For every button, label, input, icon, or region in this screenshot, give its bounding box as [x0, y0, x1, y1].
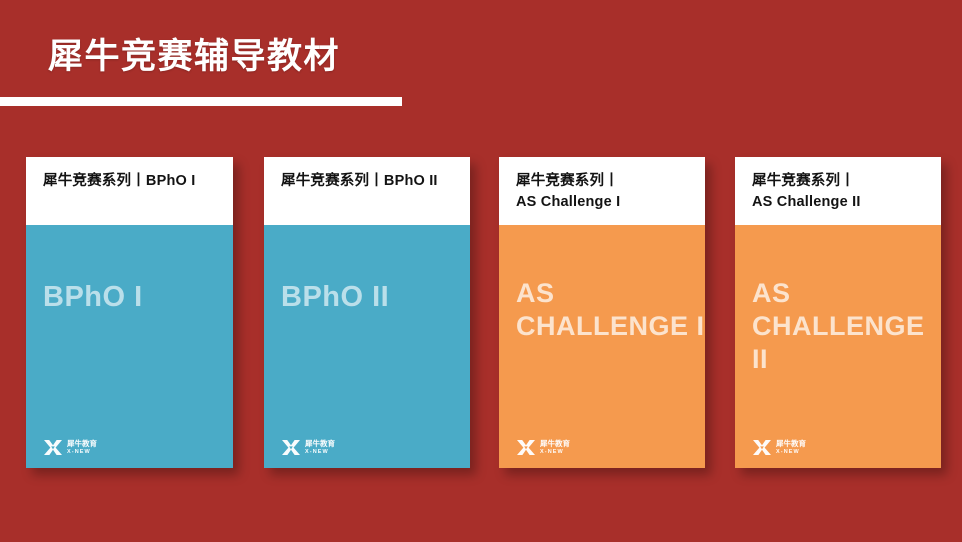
book-card-row: 犀牛竞赛系列丨BPhO I BPhO I 犀牛教育 X-NEW	[0, 157, 962, 469]
card-body: AS CHALLENGE I 犀牛教育 X-NEW	[499, 225, 705, 468]
card-title-text: BPhO I	[43, 281, 143, 314]
book-card-bpho-1[interactable]: 犀牛竞赛系列丨BPhO I BPhO I 犀牛教育 X-NEW	[26, 157, 233, 468]
card-header: 犀牛竞赛系列丨 AS Challenge I	[499, 157, 705, 225]
x-rhino-logo-icon	[43, 439, 63, 456]
card-header: 犀牛竞赛系列丨BPhO II	[264, 157, 470, 225]
logo-en-label: X-NEW	[776, 448, 806, 456]
card-header-label: 犀牛竞赛系列丨 AS Challenge II	[752, 171, 927, 213]
book-card-bpho-2[interactable]: 犀牛竞赛系列丨BPhO II BPhO II 犀牛教育 X-NEW	[264, 157, 470, 468]
card-header-label: 犀牛竞赛系列丨BPhO I	[43, 171, 219, 192]
page-title: 犀牛竞赛辅导教材	[48, 34, 340, 80]
card-title-text: AS CHALLENGE II	[752, 277, 941, 376]
logo-text: 犀牛教育 X-NEW	[540, 439, 570, 456]
title-underline-bar	[0, 97, 402, 106]
card-body: AS CHALLENGE II 犀牛教育 X-NEW	[735, 225, 941, 468]
logo-cn-label: 犀牛教育	[305, 439, 335, 448]
title-block: 犀牛竞赛辅导教材	[0, 22, 420, 112]
x-rhino-logo-icon	[516, 439, 536, 456]
card-header-label: 犀牛竞赛系列丨BPhO II	[281, 171, 456, 192]
logo-en-label: X-NEW	[540, 448, 570, 456]
logo-en-label: X-NEW	[305, 448, 335, 456]
brand-logo: 犀牛教育 X-NEW	[281, 439, 335, 456]
logo-text: 犀牛教育 X-NEW	[776, 439, 806, 456]
logo-cn-label: 犀牛教育	[540, 439, 570, 448]
logo-text: 犀牛教育 X-NEW	[305, 439, 335, 456]
book-card-as-challenge-2[interactable]: 犀牛竞赛系列丨 AS Challenge II AS CHALLENGE II …	[735, 157, 941, 468]
logo-cn-label: 犀牛教育	[776, 439, 806, 448]
brand-logo: 犀牛教育 X-NEW	[752, 439, 806, 456]
card-body: BPhO II 犀牛教育 X-NEW	[264, 225, 470, 468]
brand-logo: 犀牛教育 X-NEW	[43, 439, 97, 456]
card-title-text: BPhO II	[281, 281, 389, 314]
card-header: 犀牛竞赛系列丨BPhO I	[26, 157, 233, 225]
card-header-label: 犀牛竞赛系列丨 AS Challenge I	[516, 171, 691, 213]
book-card-as-challenge-1[interactable]: 犀牛竞赛系列丨 AS Challenge I AS CHALLENGE I 犀牛…	[499, 157, 705, 468]
brand-logo: 犀牛教育 X-NEW	[516, 439, 570, 456]
card-header: 犀牛竞赛系列丨 AS Challenge II	[735, 157, 941, 225]
logo-cn-label: 犀牛教育	[67, 439, 97, 448]
presentation-slide: 犀牛竞赛辅导教材 犀牛竞赛系列丨BPhO I BPhO I 犀牛教育 X-NEW	[0, 0, 962, 542]
logo-en-label: X-NEW	[67, 448, 97, 456]
logo-text: 犀牛教育 X-NEW	[67, 439, 97, 456]
x-rhino-logo-icon	[281, 439, 301, 456]
card-title-text: AS CHALLENGE I	[516, 277, 705, 343]
card-body: BPhO I 犀牛教育 X-NEW	[26, 225, 233, 468]
x-rhino-logo-icon	[752, 439, 772, 456]
